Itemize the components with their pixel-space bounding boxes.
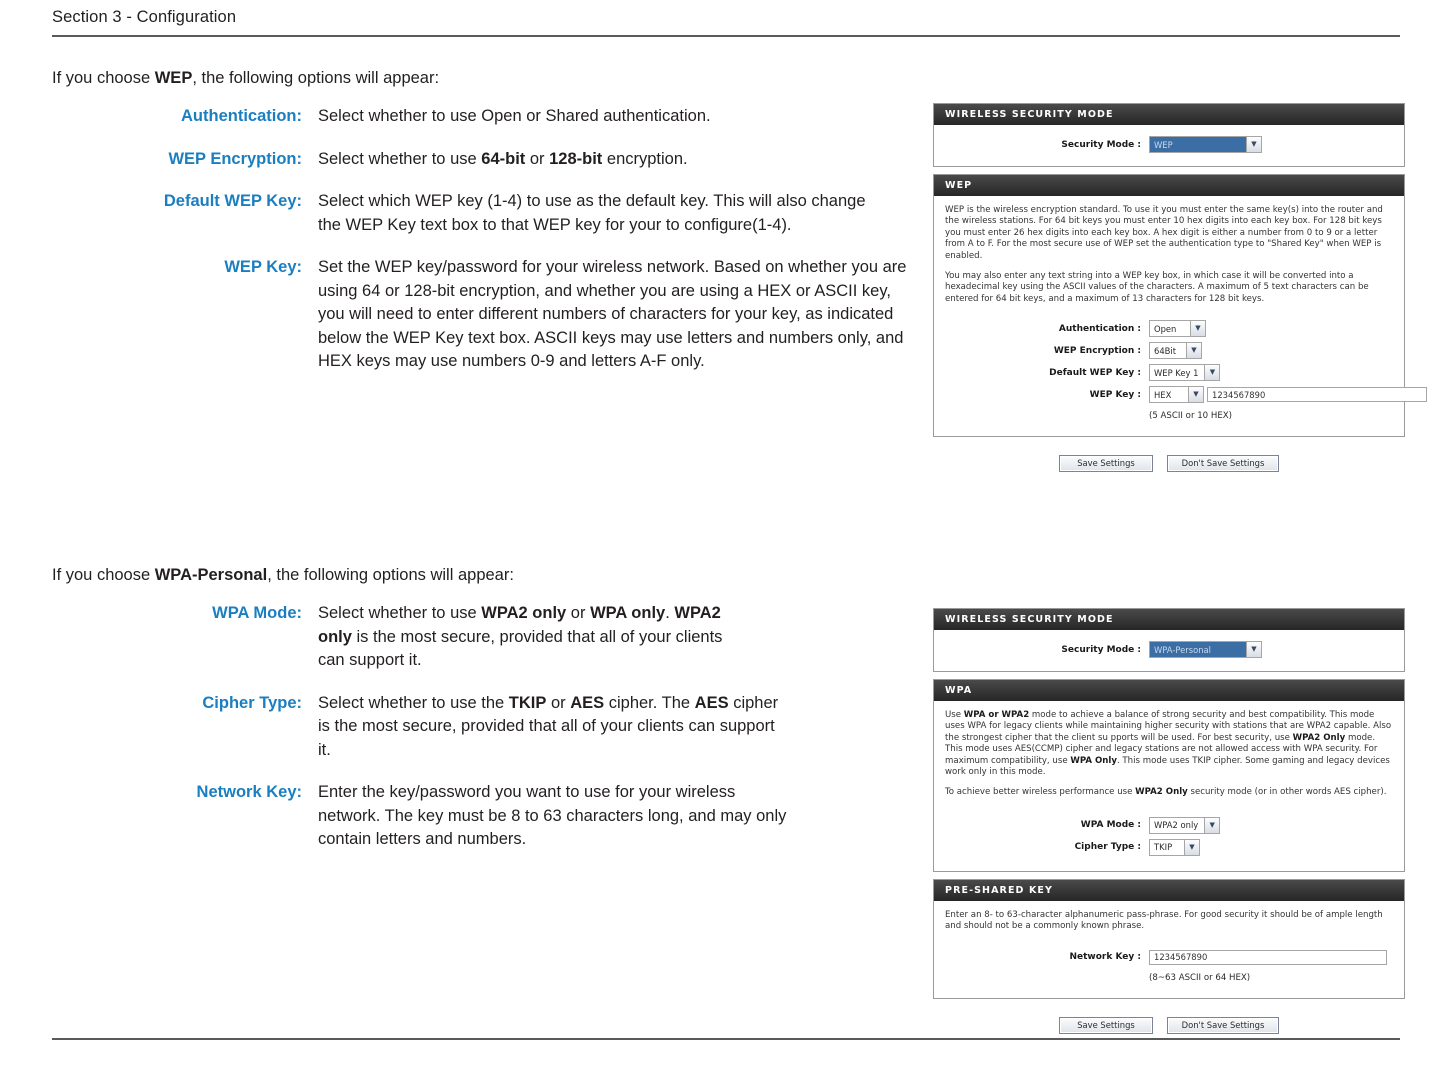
definition-term-wep-key: WEP Key: bbox=[52, 256, 318, 279]
definition-term-network-key: Network Key: bbox=[52, 781, 318, 804]
chevron-down-icon: ▼ bbox=[1246, 137, 1261, 152]
pre-shared-key-header: PRE-SHARED KEY bbox=[934, 880, 1404, 901]
network-key-row: Network Key : 1234567890 bbox=[945, 950, 1393, 965]
wep-key-input[interactable]: 1234567890 bbox=[1207, 387, 1427, 402]
definition-term-wpa-mode: WPA Mode: bbox=[52, 602, 318, 625]
pre-shared-key-form: Network Key : 1234567890 (8~63 ASCII or … bbox=[945, 942, 1393, 987]
wep-form: Authentication : Open ▼ WEP Encryption :… bbox=[945, 314, 1393, 425]
pre-shared-key-paragraph: Enter an 8- to 63-character alphanumeric… bbox=[945, 910, 1393, 933]
security-mode-row: Security Mode : WPA-Personal ▼ bbox=[945, 641, 1393, 658]
wpa-intro-prefix: If you choose bbox=[52, 566, 155, 584]
wpa-form: WPA Mode : WPA2 only ▼ Cipher Type : TKI… bbox=[945, 808, 1393, 860]
wep-settings-body: WEP is the wireless encryption standard.… bbox=[934, 196, 1404, 436]
pre-shared-key-box: PRE-SHARED KEY Enter an 8- to 63-charact… bbox=[933, 879, 1405, 999]
cipher-type-select[interactable]: TKIP ▼ bbox=[1149, 839, 1200, 856]
wpa-mode-value: WPA2 only bbox=[1150, 818, 1204, 833]
wep-encryption-select[interactable]: 64Bit ▼ bbox=[1149, 342, 1202, 359]
desc-text: or bbox=[566, 604, 590, 622]
wpa-intro-sentence: If you choose WPA-Personal, the followin… bbox=[52, 565, 912, 586]
spacer bbox=[945, 970, 1149, 983]
wep-key-field[interactable]: HEX ▼ 1234567890 bbox=[1149, 386, 1427, 403]
definition-desc-wep-encryption: Select whether to use 64-bit or 128-bit … bbox=[318, 148, 912, 172]
cipher-type-label: Cipher Type : bbox=[945, 842, 1149, 852]
wep-encryption-row: WEP Encryption : 64Bit ▼ bbox=[945, 342, 1393, 359]
desc-text: Select whether to use the bbox=[318, 694, 509, 712]
wep-key-label: WEP Key : bbox=[945, 390, 1149, 400]
desc-emphasis: TKIP bbox=[509, 694, 547, 712]
wpa-mode-row: WPA Mode : WPA2 only ▼ bbox=[945, 817, 1393, 834]
authentication-row: Authentication : Open ▼ bbox=[945, 320, 1393, 337]
security-mode-row: Security Mode : WEP ▼ bbox=[945, 136, 1393, 153]
wireless-security-mode-header: WIRELESS SECURITY MODE bbox=[934, 104, 1404, 125]
wep-intro-keyword: WEP bbox=[155, 69, 193, 87]
para-emphasis: WPA Only bbox=[1070, 756, 1117, 766]
wireless-security-mode-header: WIRELESS SECURITY MODE bbox=[934, 609, 1404, 630]
chevron-down-icon: ▼ bbox=[1190, 321, 1205, 336]
desc-emphasis: WPA only bbox=[590, 604, 665, 622]
wpa-intro-keyword: WPA-Personal bbox=[155, 566, 267, 584]
wep-intro-prefix: If you choose bbox=[52, 69, 155, 87]
header-divider bbox=[52, 35, 1400, 37]
definition-desc-authentication: Select whether to use Open or Shared aut… bbox=[318, 105, 912, 129]
cipher-type-field[interactable]: TKIP ▼ bbox=[1149, 839, 1200, 856]
wep-documentation-column: If you choose WEP, the following options… bbox=[52, 68, 912, 393]
chevron-down-icon: ▼ bbox=[1186, 343, 1201, 358]
desc-emphasis: 64-bit bbox=[481, 150, 525, 168]
desc-text: encryption. bbox=[602, 150, 687, 168]
wpa-description-paragraph-2: To achieve better wireless performance u… bbox=[945, 787, 1393, 798]
pre-shared-key-body: Enter an 8- to 63-character alphanumeric… bbox=[934, 901, 1404, 998]
wep-settings-box: WEP WEP is the wireless encryption stand… bbox=[933, 174, 1405, 437]
wireless-security-mode-box: WIRELESS SECURITY MODE Security Mode : W… bbox=[933, 608, 1405, 672]
dont-save-settings-button[interactable]: Don't Save Settings bbox=[1167, 1017, 1279, 1034]
page-header: Section 3 - Configuration bbox=[52, 8, 1400, 37]
default-wep-key-label: Default WEP Key : bbox=[945, 368, 1149, 378]
para-text: security mode (or in other words AES cip… bbox=[1188, 787, 1387, 797]
definition-term-cipher-type: Cipher Type: bbox=[52, 692, 318, 715]
save-settings-button[interactable]: Save Settings bbox=[1059, 1017, 1153, 1034]
definition-term-wep-encryption: WEP Encryption: bbox=[52, 148, 318, 171]
para-text: To achieve better wireless performance u… bbox=[945, 787, 1135, 797]
chevron-down-icon: ▼ bbox=[1204, 818, 1219, 833]
wep-key-row: WEP Key : HEX ▼ 1234567890 bbox=[945, 386, 1393, 403]
desc-text: is the most secure, provided that all of… bbox=[318, 628, 722, 670]
definition-desc-wep-key: Set the WEP key/password for your wirele… bbox=[318, 256, 912, 374]
definition-row-wep-key: WEP Key: Set the WEP key/password for yo… bbox=[52, 256, 912, 374]
chevron-down-icon: ▼ bbox=[1246, 642, 1261, 657]
wpa-intro-suffix: , the following options will appear: bbox=[267, 566, 514, 584]
wep-encryption-field[interactable]: 64Bit ▼ bbox=[1149, 342, 1202, 359]
dont-save-settings-button[interactable]: Don't Save Settings bbox=[1167, 455, 1279, 472]
default-wep-key-field[interactable]: WEP Key 1 ▼ bbox=[1149, 364, 1220, 381]
para-text: Use bbox=[945, 710, 964, 720]
para-emphasis: WPA2 Only bbox=[1135, 787, 1188, 797]
authentication-label: Authentication : bbox=[945, 324, 1149, 334]
chevron-down-icon: ▼ bbox=[1204, 365, 1219, 380]
wep-intro-suffix: , the following options will appear: bbox=[192, 69, 439, 87]
definition-row-wep-encryption: WEP Encryption: Select whether to use 64… bbox=[52, 148, 912, 172]
wpa-mode-field[interactable]: WPA2 only ▼ bbox=[1149, 817, 1220, 834]
wep-panel-buttons: Save Settings Don't Save Settings bbox=[933, 444, 1405, 472]
wpa-panel-buttons: Save Settings Don't Save Settings bbox=[933, 1006, 1405, 1034]
cipher-type-row: Cipher Type : TKIP ▼ bbox=[945, 839, 1393, 856]
wep-router-screenshot: WIRELESS SECURITY MODE Security Mode : W… bbox=[933, 103, 1405, 472]
network-key-hint: (8~63 ASCII or 64 HEX) bbox=[1149, 973, 1250, 983]
wireless-security-mode-body: Security Mode : WPA-Personal ▼ bbox=[934, 630, 1404, 671]
spacer bbox=[945, 408, 1149, 421]
security-mode-label: Security Mode : bbox=[945, 140, 1149, 150]
security-mode-field[interactable]: WPA-Personal ▼ bbox=[1149, 641, 1262, 658]
wpa-settings-header: WPA bbox=[934, 680, 1404, 701]
wep-description-paragraph-1: WEP is the wireless encryption standard.… bbox=[945, 205, 1393, 262]
definition-row-default-wep-key: Default WEP Key: Select which WEP key (1… bbox=[52, 190, 912, 237]
footer-divider bbox=[52, 1038, 1400, 1040]
wep-key-format-value: HEX bbox=[1150, 387, 1188, 402]
network-key-hint-row: (8~63 ASCII or 64 HEX) bbox=[945, 970, 1393, 983]
security-mode-select[interactable]: WPA-Personal ▼ bbox=[1149, 641, 1262, 658]
security-mode-value: WPA-Personal bbox=[1150, 642, 1246, 657]
security-mode-label: Security Mode : bbox=[945, 645, 1149, 655]
desc-emphasis: AES bbox=[695, 694, 729, 712]
wpa-settings-body: Use WPA or WPA2 mode to achieve a balanc… bbox=[934, 701, 1404, 871]
wep-description-paragraph-2: You may also enter any text string into … bbox=[945, 271, 1393, 305]
definition-desc-cipher-type: Select whether to use the TKIP or AES ci… bbox=[318, 692, 788, 763]
definition-row-wpa-mode: WPA Mode: Select whether to use WPA2 onl… bbox=[52, 602, 912, 673]
wep-intro-sentence: If you choose WEP, the following options… bbox=[52, 68, 912, 89]
authentication-select[interactable]: Open ▼ bbox=[1149, 320, 1206, 337]
definition-row-cipher-type: Cipher Type: Select whether to use the T… bbox=[52, 692, 912, 763]
chevron-down-icon: ▼ bbox=[1184, 840, 1199, 855]
save-settings-button[interactable]: Save Settings bbox=[1059, 455, 1153, 472]
desc-text: Select whether to use bbox=[318, 150, 481, 168]
desc-text: or bbox=[546, 694, 570, 712]
para-emphasis: WPA or WPA2 bbox=[964, 710, 1029, 720]
default-wep-key-row: Default WEP Key : WEP Key 1 ▼ bbox=[945, 364, 1393, 381]
page-title: Section 3 - Configuration bbox=[52, 8, 1400, 35]
definition-term-default-wep-key: Default WEP Key: bbox=[52, 190, 318, 213]
desc-text: Select whether to use bbox=[318, 604, 481, 622]
definition-row-network-key: Network Key: Enter the key/password you … bbox=[52, 781, 912, 852]
wep-settings-header: WEP bbox=[934, 175, 1404, 196]
definition-row-authentication: Authentication: Select whether to use Op… bbox=[52, 105, 912, 129]
desc-emphasis: WPA2 only bbox=[481, 604, 566, 622]
wpa-documentation-column: If you choose WPA-Personal, the followin… bbox=[52, 565, 912, 871]
wpa-mode-label: WPA Mode : bbox=[945, 820, 1149, 830]
desc-emphasis: 128-bit bbox=[549, 150, 602, 168]
chevron-down-icon: ▼ bbox=[1188, 387, 1203, 402]
wireless-security-mode-body: Security Mode : WEP ▼ bbox=[934, 125, 1404, 166]
wpa-settings-box: WPA Use WPA or WPA2 mode to achieve a ba… bbox=[933, 679, 1405, 872]
authentication-field[interactable]: Open ▼ bbox=[1149, 320, 1206, 337]
definition-desc-network-key: Enter the key/password you want to use f… bbox=[318, 781, 798, 852]
wep-key-format-select[interactable]: HEX ▼ bbox=[1149, 386, 1204, 403]
security-mode-select[interactable]: WEP ▼ bbox=[1149, 136, 1262, 153]
wpa-description-paragraph-1: Use WPA or WPA2 mode to achieve a balanc… bbox=[945, 710, 1393, 778]
security-mode-field[interactable]: WEP ▼ bbox=[1149, 136, 1262, 153]
authentication-value: Open bbox=[1150, 321, 1190, 336]
wep-encryption-value: 64Bit bbox=[1150, 343, 1186, 358]
network-key-input[interactable]: 1234567890 bbox=[1149, 950, 1387, 965]
cipher-type-value: TKIP bbox=[1150, 840, 1184, 855]
definition-term-authentication: Authentication: bbox=[52, 105, 318, 128]
desc-text: or bbox=[525, 150, 549, 168]
desc-text: cipher. The bbox=[604, 694, 695, 712]
wpa-router-screenshot: WIRELESS SECURITY MODE Security Mode : W… bbox=[933, 608, 1405, 1034]
desc-emphasis: AES bbox=[570, 694, 604, 712]
network-key-label: Network Key : bbox=[945, 952, 1149, 962]
wireless-security-mode-box: WIRELESS SECURITY MODE Security Mode : W… bbox=[933, 103, 1405, 167]
default-wep-key-value: WEP Key 1 bbox=[1150, 365, 1204, 380]
network-key-field[interactable]: 1234567890 bbox=[1149, 950, 1387, 965]
definition-desc-wpa-mode: Select whether to use WPA2 only or WPA o… bbox=[318, 602, 748, 673]
wep-encryption-label: WEP Encryption : bbox=[945, 346, 1149, 356]
definition-desc-default-wep-key: Select which WEP key (1-4) to use as the… bbox=[318, 190, 878, 237]
wpa-mode-select[interactable]: WPA2 only ▼ bbox=[1149, 817, 1220, 834]
security-mode-value: WEP bbox=[1150, 137, 1246, 152]
wep-key-hint: (5 ASCII or 10 HEX) bbox=[1149, 411, 1232, 421]
wep-key-hint-row: (5 ASCII or 10 HEX) bbox=[945, 408, 1393, 421]
para-emphasis: WPA2 Only bbox=[1293, 733, 1346, 743]
default-wep-key-select[interactable]: WEP Key 1 ▼ bbox=[1149, 364, 1220, 381]
